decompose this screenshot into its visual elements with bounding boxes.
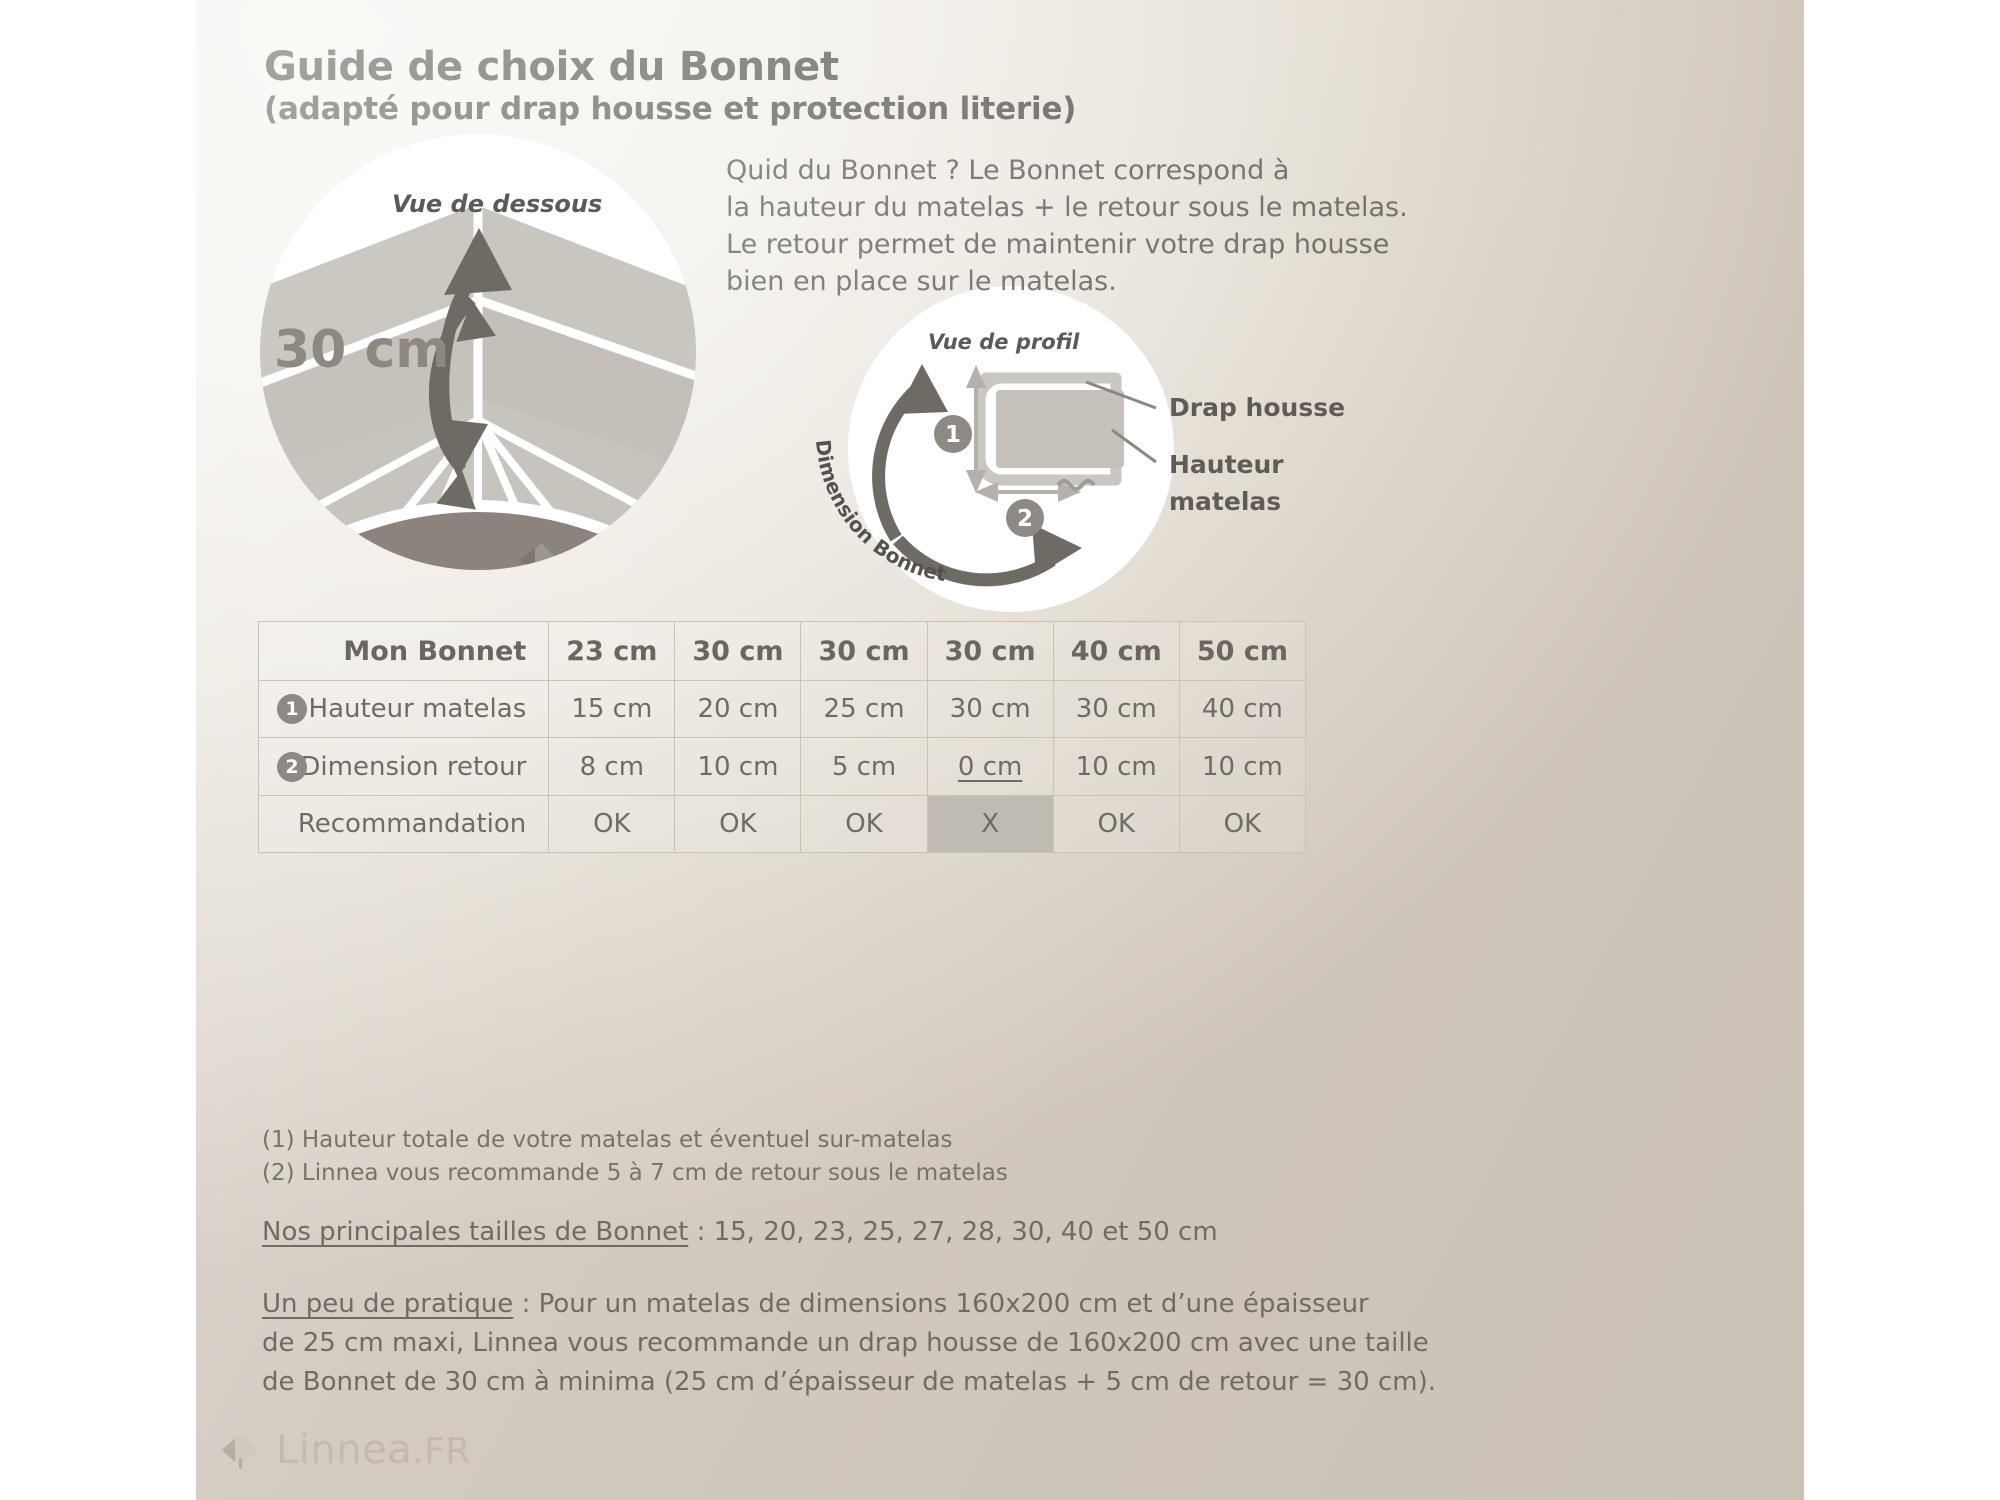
note-pratique: Un peu de pratique : Pour un matelas de …: [262, 1285, 1436, 1402]
note-pratique-line-1: Un peu de pratique : Pour un matelas de …: [262, 1285, 1436, 1324]
profile-view-caption: Vue de profil: [928, 330, 1079, 354]
table-row-label-dimension-retour: 2 Dimension retour: [259, 738, 549, 795]
table-row: Mon Bonnet 23 cm 30 cm 30 cm 30 cm 40 cm…: [259, 622, 1306, 681]
table-row: Recommandation OK OK OK X OK OK: [259, 795, 1306, 852]
table-cell: 40 cm: [1053, 622, 1179, 681]
note-tailles: Nos principales tailles de Bonnet : 15, …: [262, 1213, 1218, 1252]
note-pratique-line-3: de Bonnet de 30 cm à minima (25 cm d’épa…: [262, 1363, 1436, 1402]
table-cell: OK: [1053, 795, 1179, 852]
note-pratique-text-1: : Pour un matelas de dimensions 160x200 …: [513, 1289, 1368, 1319]
table-cell: 23 cm: [549, 622, 675, 681]
note-tailles-label: Nos principales tailles de Bonnet: [262, 1217, 688, 1247]
linnea-diamond-icon: [218, 1427, 264, 1473]
table-row: 2 Dimension retour 8 cm 10 cm 5 cm 0 cm …: [259, 738, 1306, 795]
callout-drap-housse: Drap housse: [1169, 393, 1345, 422]
dimension-bonnet-arc-label: Dimension Bonnet: [802, 430, 1002, 600]
table-row-label-text: Hauteur matelas: [309, 694, 527, 724]
table-cell: 5 cm: [801, 738, 927, 795]
table-cell-not-recommended: X: [927, 795, 1053, 852]
table-cell: OK: [549, 795, 675, 852]
table-cell: OK: [1179, 795, 1305, 852]
badge-2-icon: 2: [277, 752, 307, 782]
table-row-label: Mon Bonnet: [259, 622, 549, 681]
left-margin: [0, 0, 196, 1500]
table-cell: 15 cm: [549, 681, 675, 738]
footnote-1: (1) Hauteur totale de votre matelas et é…: [262, 1124, 952, 1157]
linnea-logo: Linnea.FR: [218, 1422, 518, 1478]
table-cell: 8 cm: [549, 738, 675, 795]
dimension-bonnet-text: Dimension Bonnet: [811, 438, 948, 586]
footnote-2: (2) Linnea vous recommande 5 à 7 cm de r…: [262, 1157, 1008, 1190]
table-cell-underlined: 0 cm: [958, 752, 1022, 782]
table-cell: 20 cm: [675, 681, 801, 738]
note-tailles-value: : 15, 20, 23, 25, 27, 28, 30, 40 et 50 c…: [688, 1217, 1217, 1247]
note-pratique-line-2: de 25 cm maxi, Linnea vous recommande un…: [262, 1324, 1436, 1363]
table-cell: 10 cm: [1053, 738, 1179, 795]
table-cell: 30 cm: [927, 622, 1053, 681]
callout-hauteur-matelas-line2: matelas: [1169, 487, 1281, 516]
logo-name: Linnea: [276, 1427, 412, 1473]
table-cell: 30 cm: [801, 622, 927, 681]
table-row-label: Recommandation: [259, 795, 549, 852]
table-row-label-text: Dimension retour: [300, 752, 526, 782]
table-cell: 50 cm: [1179, 622, 1305, 681]
note-pratique-label: Un peu de pratique: [262, 1289, 513, 1319]
table-cell: 30 cm: [675, 622, 801, 681]
table-cell: 30 cm: [927, 681, 1053, 738]
logo-wordmark: Linnea.FR: [276, 1427, 471, 1473]
bonnet-table: Mon Bonnet 23 cm 30 cm 30 cm 30 cm 40 cm…: [258, 621, 1306, 853]
table-cell: 10 cm: [1179, 738, 1305, 795]
logo-suffix: .FR: [412, 1431, 471, 1472]
table-row-label-hauteur-matelas: 1 Hauteur matelas: [259, 681, 549, 738]
bottom-view-measure-label: 30 cm: [274, 320, 449, 380]
artwork-area: 1 2 Guide de choix du Bonnet (adapté pou…: [196, 0, 1804, 1500]
right-margin: [1804, 0, 2000, 1500]
badge-1-icon: 1: [277, 694, 307, 724]
table-cell-highlight: 0 cm: [927, 738, 1053, 795]
infographic-canvas: 1 2 Guide de choix du Bonnet (adapté pou…: [0, 0, 2000, 1500]
table-row: 1 Hauteur matelas 15 cm 20 cm 25 cm 30 c…: [259, 681, 1306, 738]
table-cell: OK: [801, 795, 927, 852]
table-cell: OK: [675, 795, 801, 852]
callout-hauteur-matelas-line1: Hauteur: [1169, 450, 1284, 479]
bottom-view-caption: Vue de dessous: [392, 190, 602, 218]
table-cell: 25 cm: [801, 681, 927, 738]
profile-badge-2: 2: [1017, 506, 1033, 532]
table-cell: 30 cm: [1053, 681, 1179, 738]
table-cell: 40 cm: [1179, 681, 1305, 738]
table-cell: 10 cm: [675, 738, 801, 795]
svg-text:Dimension Bonnet: Dimension Bonnet: [811, 438, 948, 586]
